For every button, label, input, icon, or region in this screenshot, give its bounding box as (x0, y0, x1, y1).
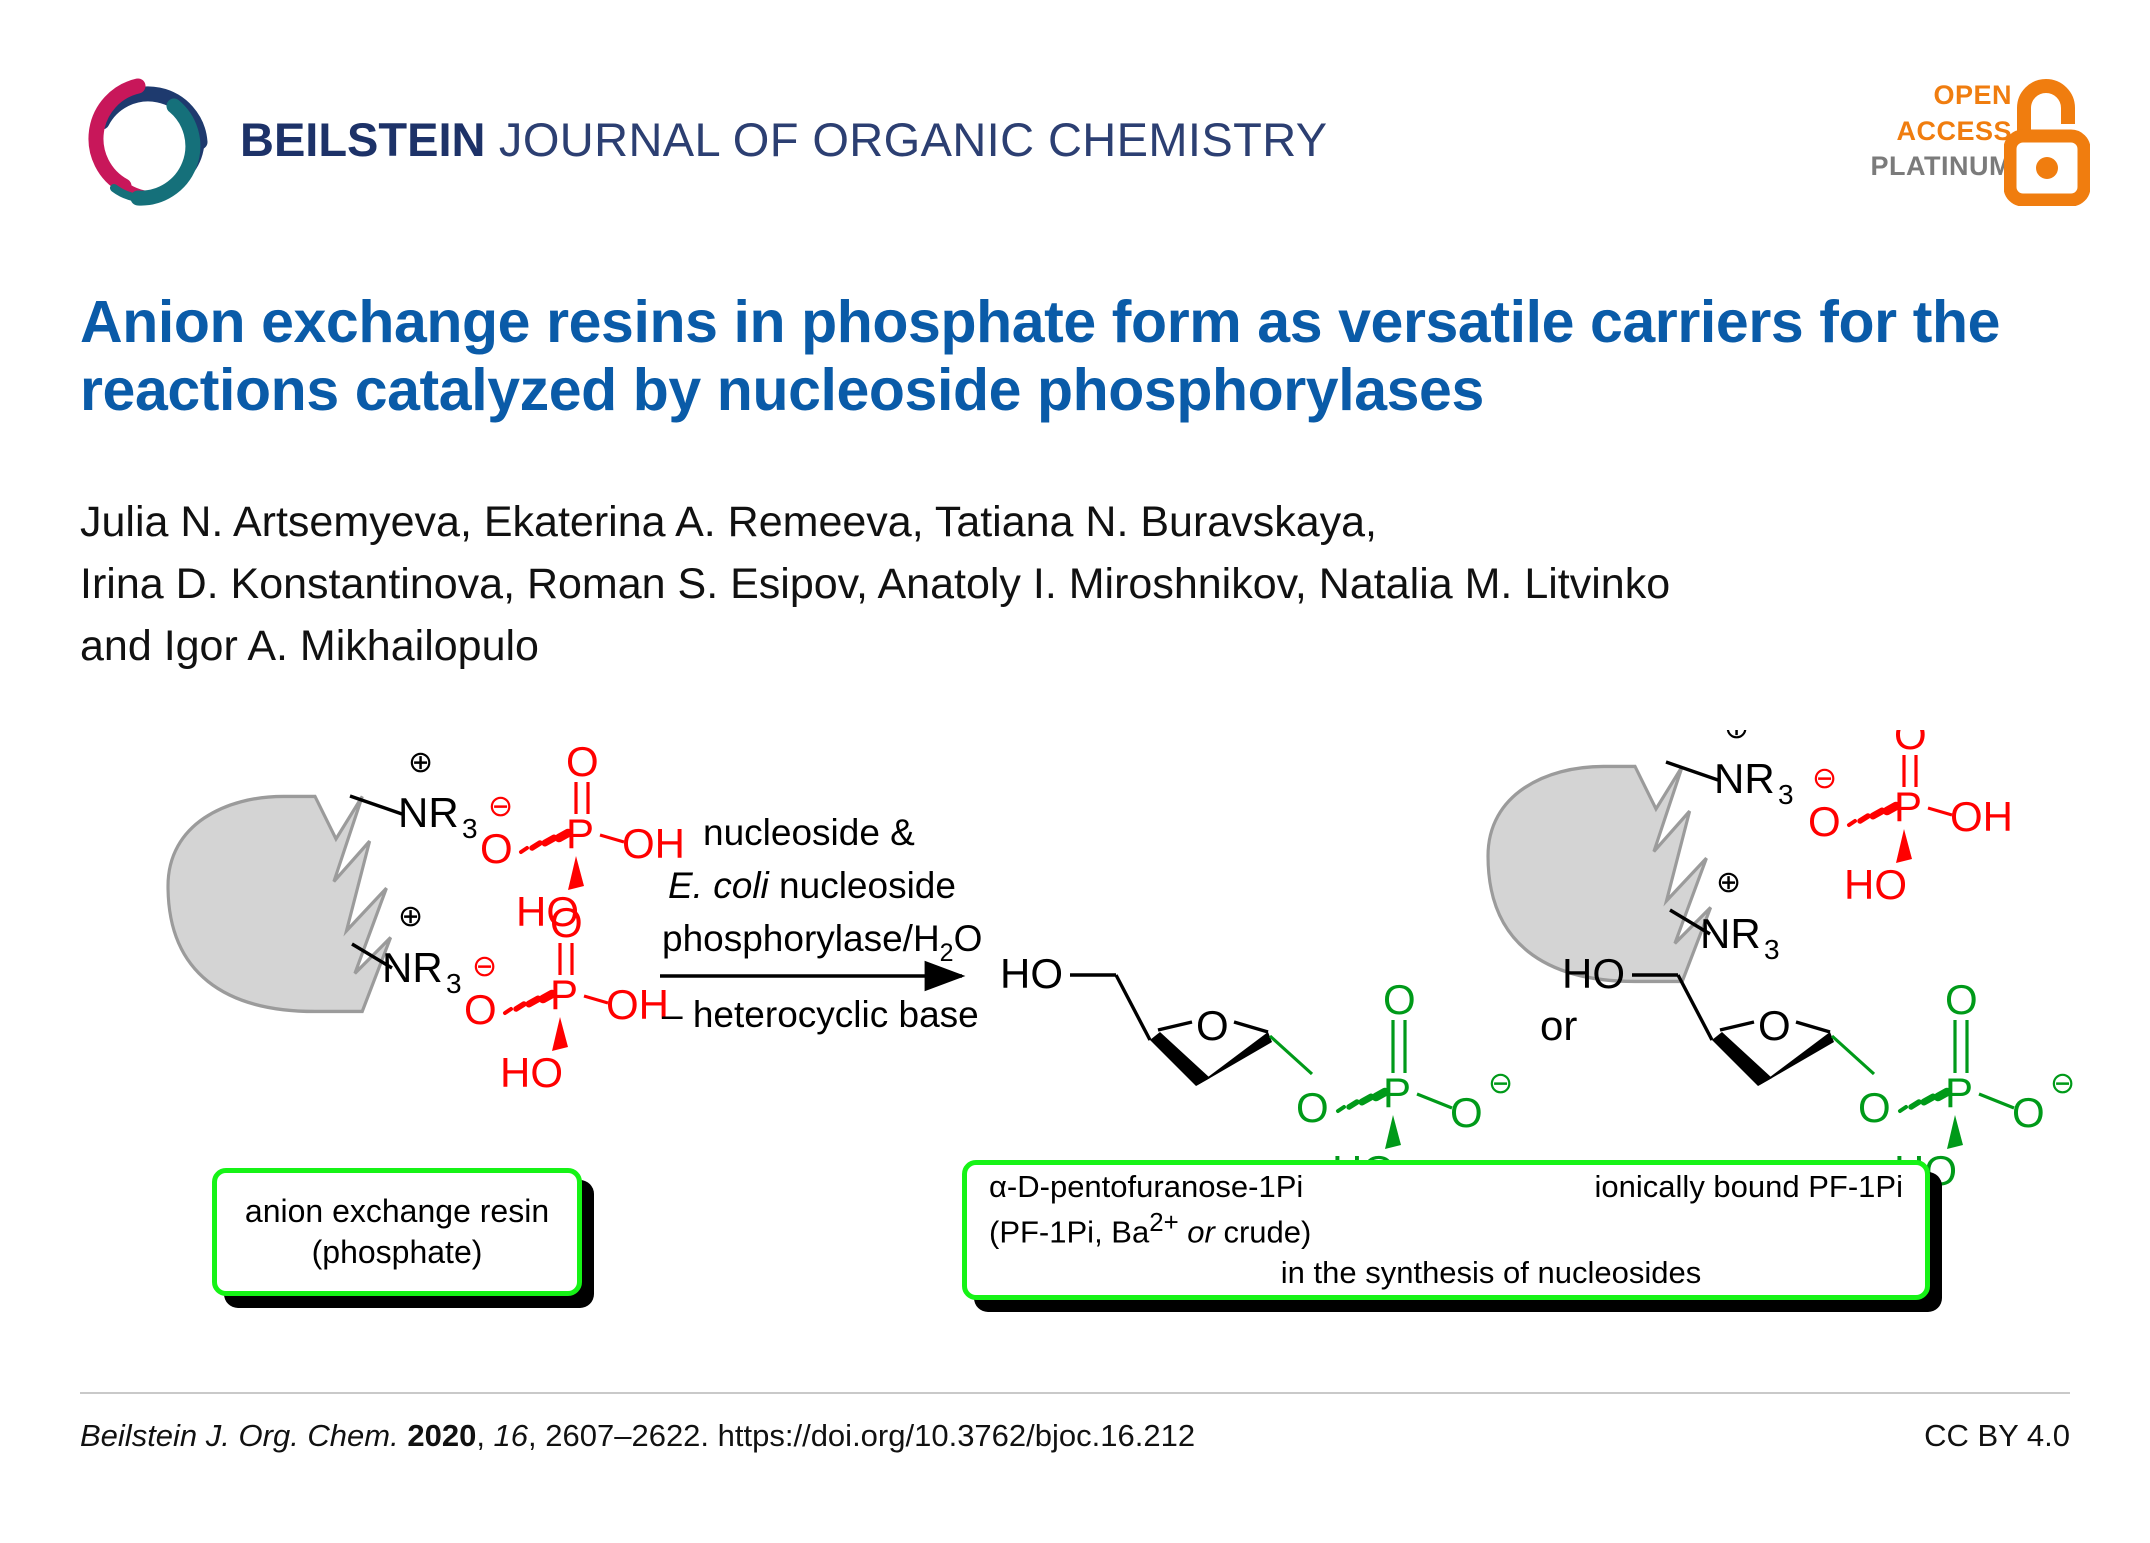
callout-product: α-D-pentofuranose-1Pi ionically bound PF… (962, 1160, 1930, 1300)
callout-anion-exchange-resin: anion exchange resin (phosphate) (212, 1168, 582, 1296)
open-access-labels: OPEN ACCESS PLATINUM (1842, 78, 2012, 185)
anion-o-green-right: O (2012, 1089, 2045, 1136)
open-lock-icon (2004, 70, 2090, 206)
minus-charge-green-right: ⊖ (2050, 1067, 2075, 1100)
minus-charge-green-middle: ⊖ (1488, 1067, 1513, 1100)
anion-o-red-right: O (1808, 798, 1841, 845)
double-bond-o-green-right: O (1945, 976, 1978, 1023)
ring-o-middle: O (1196, 1002, 1229, 1049)
reaction-arrow-group: nucleoside & E. coli nucleoside phosphor… (660, 812, 982, 1035)
callout-product-left-label: α-D-pentofuranose-1Pi (989, 1167, 1303, 1207)
oa-platinum-label: PLATINUM (1842, 149, 2012, 185)
ho-label-middle: HO (1000, 950, 1063, 997)
oh-red-left-top: OH (622, 820, 685, 867)
plus-charge-right-bottom: ⊕ (1716, 866, 1741, 899)
callout-product-right-label: ionically bound PF-1Pi (1595, 1167, 1903, 1207)
plus-charge-right-top: ⊕ (1724, 730, 1749, 745)
ho-red-right: HO (1844, 861, 1907, 908)
minus-charge-red-left-top: ⊖ (488, 790, 513, 823)
footer-divider (80, 1392, 2070, 1394)
ho-label-right: HO (1562, 950, 1625, 997)
callout-product-row-2: (PF-1Pi, Ba2+ or crude) (989, 1207, 1903, 1253)
wordmark-beilstein: BEILSTEIN (240, 113, 485, 166)
condition-below: – heterocyclic base (662, 994, 979, 1035)
condition-line-3: phosphorylase/H2O (662, 918, 982, 967)
resin-blob-left (168, 796, 391, 1011)
condition-line-2: E. coli nucleoside (668, 865, 956, 906)
double-bond-o-red-right: O (1894, 730, 1927, 758)
author-list: Julia N. Artsemyeva, Ekaterina A. Remeev… (80, 492, 2070, 678)
nr3-label-left-top: NR (398, 789, 459, 836)
author-line-2: Irina D. Konstantinova, Roman S. Esipov,… (80, 554, 2070, 616)
phosphate-red-left-bottom: ⊖ O P O OH HO (464, 899, 669, 1096)
callout-product-line2-sup: 2+ (1149, 1209, 1178, 1237)
minus-charge-red-right: ⊖ (1812, 762, 1837, 795)
callout-product-line2-a: (PF-1Pi, Ba (989, 1215, 1149, 1250)
double-bond-o-red-left-bottom: O (550, 899, 583, 946)
nr3-sub-right-top: 3 (1778, 779, 1794, 810)
citation-journal: Beilstein J. Org. Chem. (80, 1418, 399, 1453)
ammonium-group-right-top: ⊕ NR 3 (1666, 730, 1794, 810)
wordmark-subtitle: JOURNAL OF ORGANIC CHEMISTRY (485, 113, 1327, 166)
nr3-label-right-top: NR (1714, 755, 1775, 802)
citation-year: 2020 (407, 1418, 476, 1453)
p-atom-green-right: P (1945, 1069, 1973, 1116)
ester-o-right: O (1858, 1084, 1891, 1131)
or-connector: or (1540, 1002, 1577, 1049)
ammonium-group-left-top: ⊕ NR 3 (350, 746, 478, 844)
minus-charge-red-left-bottom: ⊖ (472, 950, 497, 983)
p-atom-red-left-top: P (566, 810, 594, 857)
nr3-sub-left-bottom: 3 (446, 968, 462, 999)
open-access-badge: OPEN ACCESS PLATINUM (1830, 78, 2090, 208)
author-line-1: Julia N. Artsemyeva, Ekaterina A. Remeev… (80, 492, 2070, 554)
plus-charge-left-top: ⊕ (408, 746, 433, 779)
anion-o-red-left-top: O (480, 825, 513, 872)
double-bond-o-green-middle: O (1383, 976, 1416, 1023)
product-middle: HO O O P O O ⊖ HO (1000, 950, 1513, 1194)
oh-red-right: OH (1950, 793, 2013, 840)
nr3-label-left-bottom: NR (382, 944, 443, 991)
anion-o-green-middle: O (1450, 1089, 1483, 1136)
plus-charge-left-bottom: ⊕ (398, 900, 423, 933)
beilstein-spiral-logo-icon (78, 70, 218, 210)
ho-red-left-bottom: HO (500, 1049, 563, 1096)
oh-red-left-bottom: OH (606, 981, 669, 1028)
journal-wordmark: BEILSTEIN JOURNAL OF ORGANIC CHEMISTRY (240, 112, 1328, 167)
nr3-label-right-bottom: NR (1700, 910, 1761, 957)
double-bond-o-red-left-top: O (566, 738, 599, 785)
citation-volume: 16 (494, 1418, 528, 1453)
anion-o-red-left-bottom: O (464, 986, 497, 1033)
callout-resin-line-2: (phosphate) (227, 1232, 567, 1273)
nr3-sub-left-top: 3 (462, 813, 478, 844)
page-title: Anion exchange resins in phosphate form … (80, 288, 2070, 425)
callout-product-row-1: α-D-pentofuranose-1Pi ionically bound PF… (989, 1167, 1903, 1207)
footer-citation: Beilstein J. Org. Chem. 2020, 16, 2607–2… (80, 1418, 1195, 1454)
p-atom-green-middle: P (1383, 1069, 1411, 1116)
page-header: BEILSTEIN JOURNAL OF ORGANIC CHEMISTRY O… (0, 0, 2150, 230)
oa-access-label: ACCESS (1842, 114, 2012, 150)
callout-resin-line-1: anion exchange resin (227, 1191, 567, 1232)
ring-o-right: O (1758, 1002, 1791, 1049)
footer-license: CC BY 4.0 (1924, 1418, 2070, 1454)
oa-open-label: OPEN (1842, 78, 2012, 114)
p-atom-red-left-bottom: P (550, 971, 578, 1018)
citation-pages-doi: , 2607–2622. https://doi.org/10.3762/bjo… (528, 1418, 1195, 1453)
p-atom-red-right: P (1894, 783, 1922, 830)
phosphate-red-right: ⊖ O P O OH HO (1808, 730, 2013, 908)
ester-o-middle: O (1296, 1084, 1329, 1131)
product-right: HO O O P O O ⊖ HO (1562, 950, 2075, 1194)
condition-line-1: nucleoside & (703, 812, 915, 853)
nr3-sub-right-bottom: 3 (1764, 934, 1780, 965)
callout-product-line2-c: crude) (1215, 1215, 1311, 1250)
author-line-3: and Igor A. Mikhailopulo (80, 616, 2070, 678)
callout-product-row-3: in the synthesis of nucleosides (989, 1253, 1903, 1293)
callout-product-line2-italic: or (1179, 1215, 1215, 1250)
